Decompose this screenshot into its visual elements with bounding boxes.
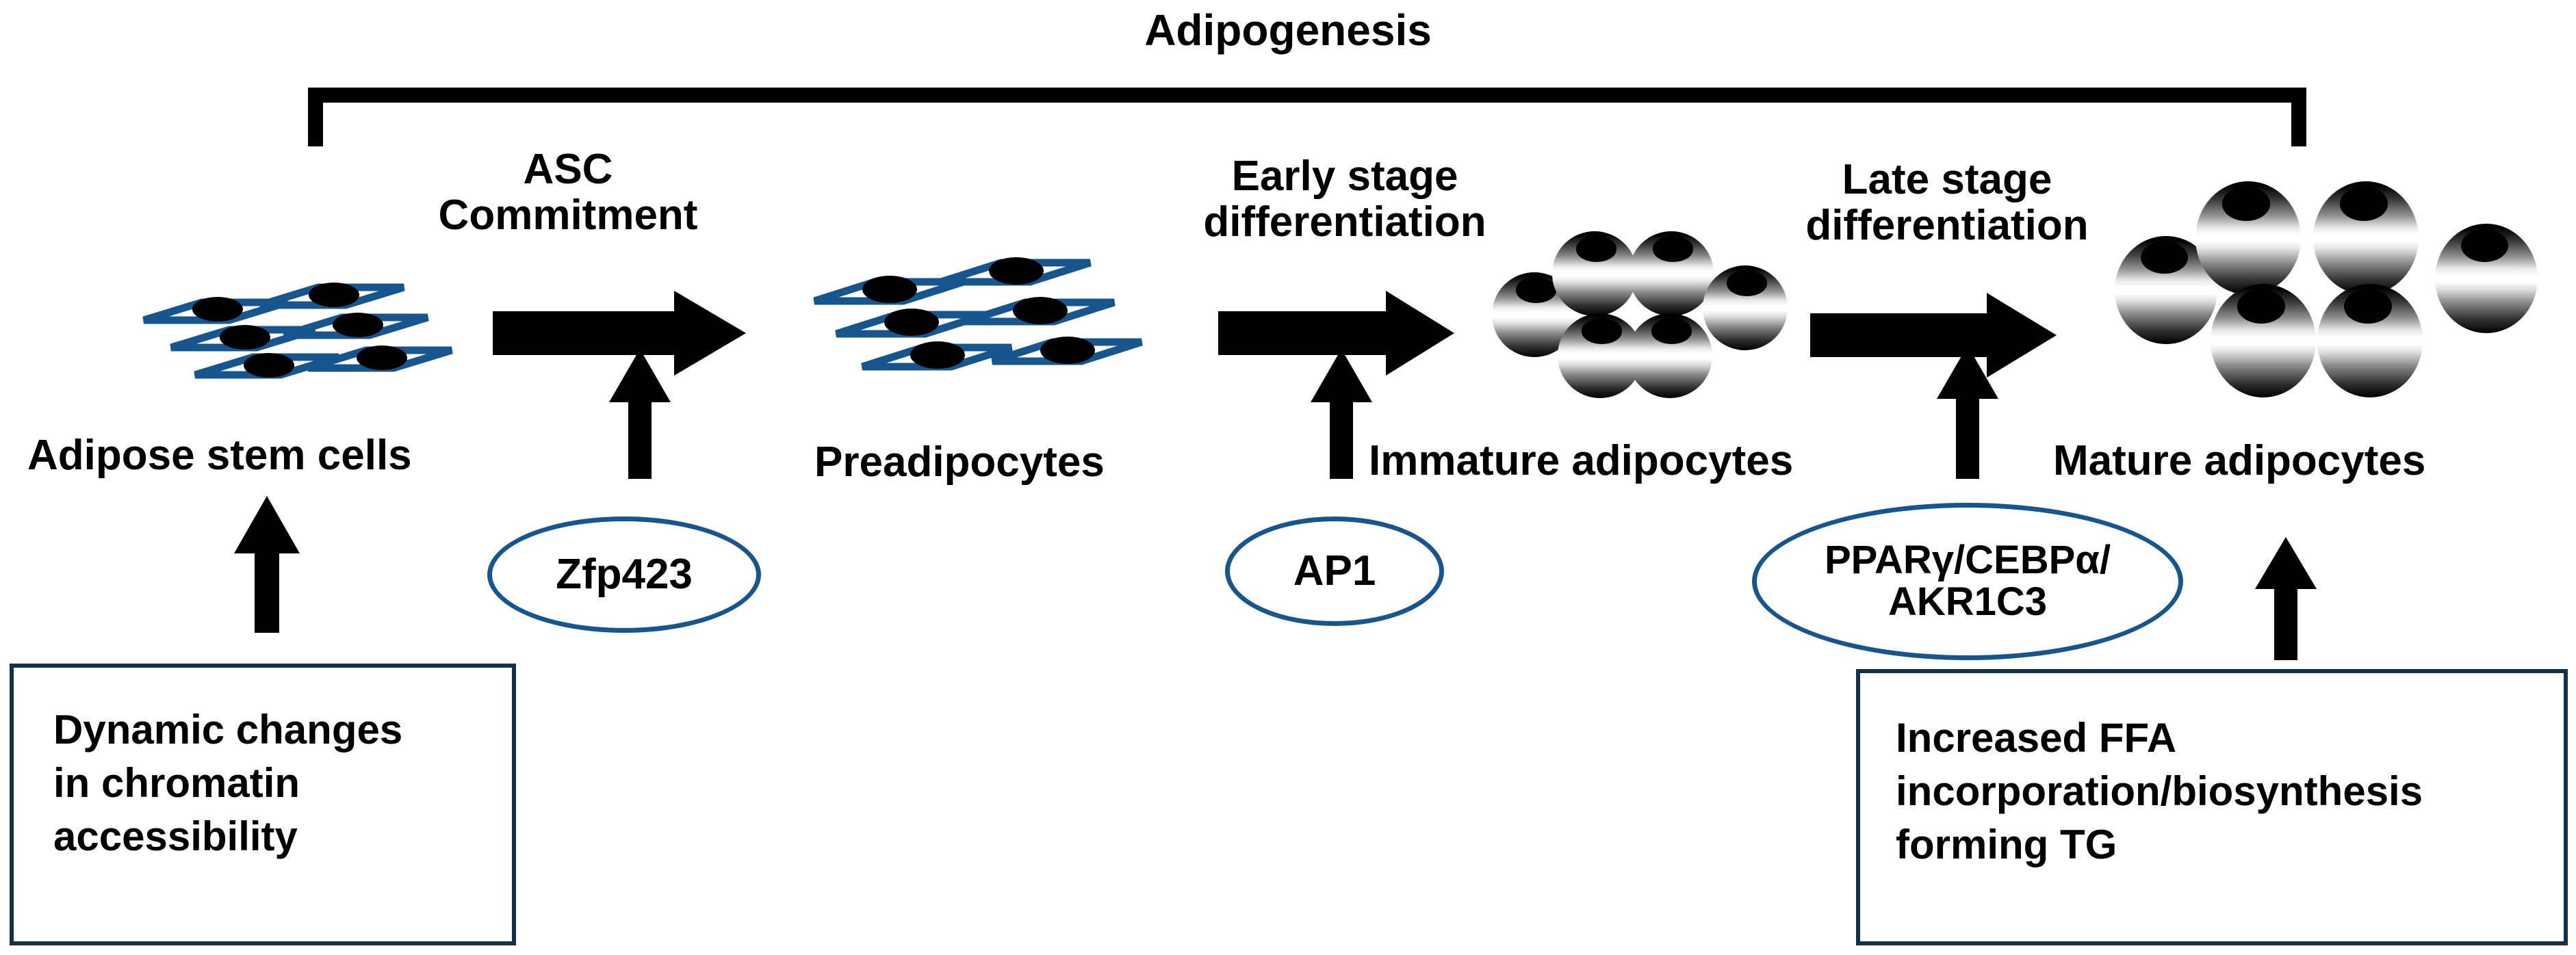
nucleus <box>2340 187 2388 221</box>
regulator-ppar-cebp-akr-label: PPARγ/CEBPα/ AKR1C3 <box>1825 540 2111 623</box>
stage-label-mature-adipocytes: Mature adipocytes <box>2053 436 2425 485</box>
adipose-stem-cells-cluster <box>116 267 472 404</box>
regulator-ppar-cebp-akr[interactable]: PPARγ/CEBPα/ AKR1C3 <box>1752 503 2183 660</box>
nucleus <box>1653 236 1694 261</box>
figure-canvas: Adipogenesis Adip <box>0 0 2576 955</box>
mature-adipocyte <box>2313 181 2419 295</box>
nucleus <box>1727 270 1768 296</box>
nucleus <box>1516 277 1557 302</box>
nucleus <box>1582 318 1623 343</box>
transition-label-asc-commitment: ASC Commitment <box>424 147 712 239</box>
immature-adipocytes-cluster <box>1492 226 1820 431</box>
bracket-left-end <box>308 88 323 146</box>
ffa-tg-note[interactable]: Increased FFA incorporation/biosynthesis… <box>1856 669 2568 945</box>
chromatin-accessibility-note-text: Dynamic changes in chromatin accessibili… <box>53 703 512 863</box>
adipogenesis-span-bracket <box>308 88 2306 146</box>
zfp423-up-arrow <box>602 349 678 479</box>
immature-adipocyte <box>1629 231 1714 316</box>
ppar-cebp-akr-up-arrow <box>1930 345 2005 479</box>
regulator-ap1-label: AP1 <box>1293 549 1376 593</box>
ffa-tg-note-text: Increased FFA incorporation/biosynthesis… <box>1896 711 2564 872</box>
immature-adipocyte <box>1552 231 1637 316</box>
stage-label-adipose-stem-cells: Adipose stem cells <box>27 431 412 480</box>
regulator-ap1[interactable]: AP1 <box>1225 516 1444 626</box>
nucleus <box>2461 229 2508 262</box>
stage-label-immature-adipocytes: Immature adipocytes <box>1369 436 1793 485</box>
ap1-up-arrow <box>1304 349 1379 479</box>
mature-adipocyte <box>2195 181 2301 295</box>
chromatin-accessibility-note[interactable]: Dynamic changes in chromatin accessibili… <box>10 664 516 945</box>
nucleus <box>2237 289 2286 324</box>
transition-label-early-stage-differentiation: Early stage differentiation <box>1174 154 1516 246</box>
immature-adipocyte <box>1627 313 1712 398</box>
bracket-right-end <box>2291 88 2306 146</box>
nucleus <box>1651 318 1692 343</box>
mature-adipocytes-cluster <box>2115 181 2553 407</box>
immature-adipocyte <box>1703 265 1788 350</box>
ffa-note-up-arrow <box>2248 537 2323 660</box>
chromatin-note-up-arrow <box>226 496 308 633</box>
nucleus <box>2222 187 2271 221</box>
regulator-zfp423-label: Zfp423 <box>556 552 693 597</box>
nucleus <box>2141 241 2188 274</box>
nucleus <box>1576 236 1617 261</box>
bracket-horizontal-bar <box>308 88 2306 103</box>
nucleus <box>2344 289 2393 324</box>
transition-label-late-stage-differentiation: Late stage differentiation <box>1769 157 2125 249</box>
preadipocytes-cluster <box>794 246 1177 390</box>
mature-adipocyte <box>2317 284 2423 397</box>
mature-adipocyte <box>2435 224 2538 333</box>
regulator-zfp423[interactable]: Zfp423 <box>487 516 761 633</box>
mature-adipocyte <box>2211 284 2316 397</box>
figure-title: Adipogenesis <box>0 7 2576 54</box>
stage-label-preadipocytes: Preadipocytes <box>814 438 1105 486</box>
